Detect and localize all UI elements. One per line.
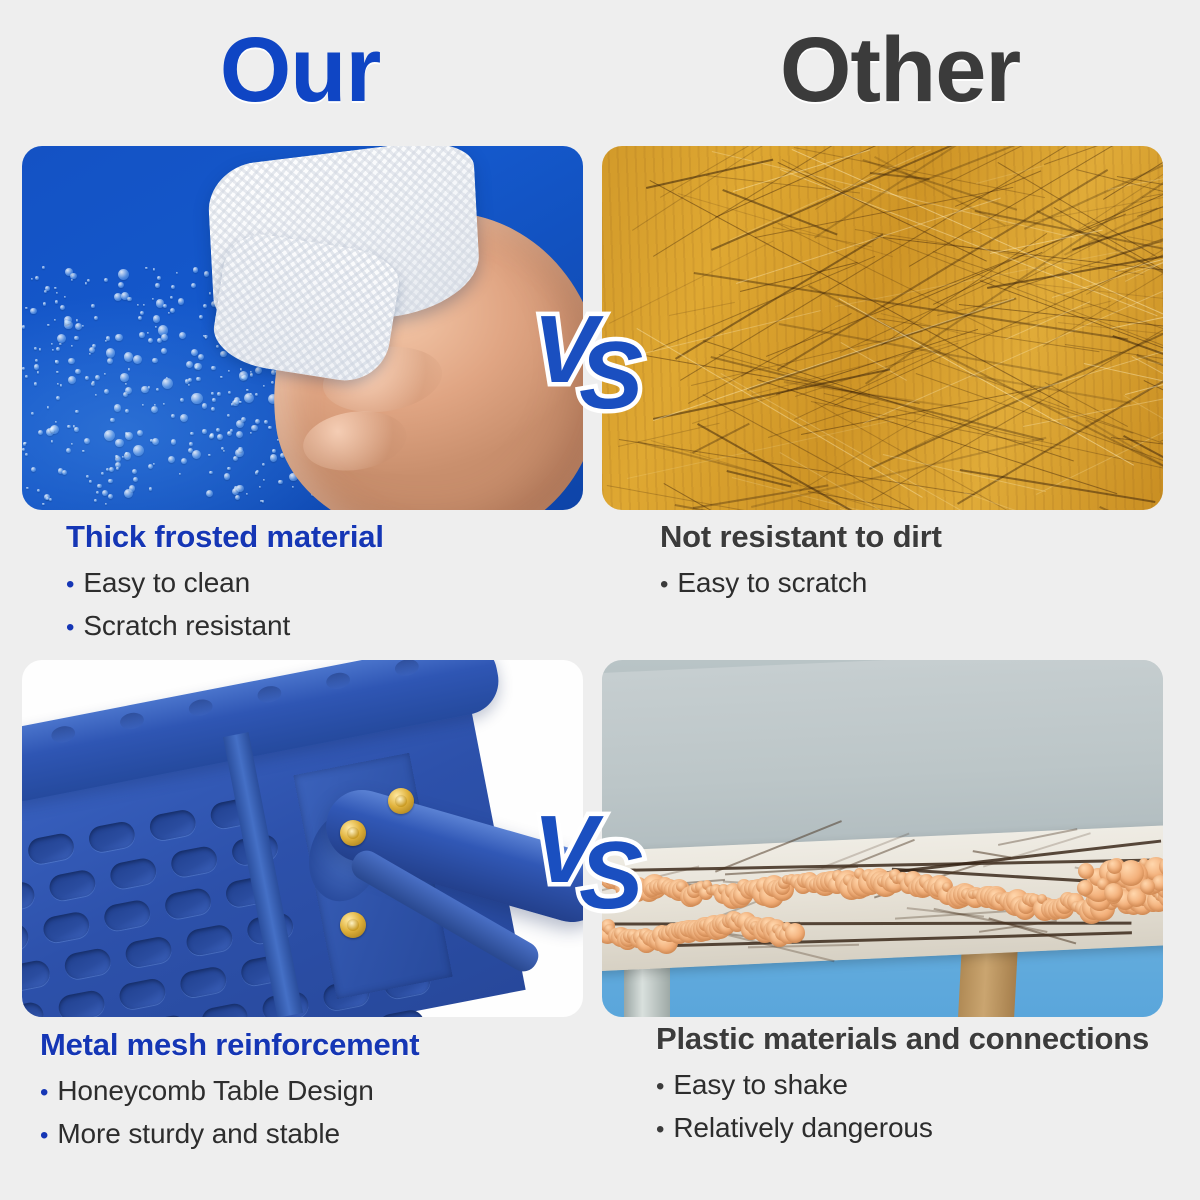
bullet-dot-icon: • [660, 573, 668, 597]
list-item-label: Honeycomb Table Design [57, 1069, 373, 1112]
bullet-dot-icon: • [40, 1124, 48, 1148]
header-our: Our [0, 14, 600, 126]
list-item-label: Easy to shake [673, 1063, 848, 1106]
caption-plastic-materials-and-connections: Plastic materials and connections •Easy … [656, 1022, 1186, 1150]
bullet-dot-icon: • [66, 573, 74, 597]
caption-bullet-list: •Easy to shake •Relatively dangerous [656, 1063, 1186, 1150]
brass-screw [340, 912, 366, 938]
bullet-dot-icon: • [656, 1075, 664, 1099]
caption-bullet-list: •Easy to scratch [660, 561, 1180, 604]
header-row: Our Other [0, 0, 1200, 140]
list-item-label: Easy to clean [83, 561, 250, 604]
bullet-dot-icon: • [66, 616, 74, 640]
list-item-label: Easy to scratch [677, 561, 867, 604]
list-item-label: Relatively dangerous [673, 1106, 933, 1149]
image-scratched-wood-surface [602, 146, 1163, 510]
list-item: •Easy to scratch [660, 561, 1180, 604]
image-blue-frosted-surface-wipe [22, 146, 583, 510]
list-item-label: Scratch resistant [83, 604, 290, 647]
bullet-dot-icon: • [40, 1081, 48, 1105]
list-item-label: More sturdy and stable [57, 1112, 340, 1155]
scratch-marks [602, 146, 1163, 510]
caption-not-resistant-to-dirt: Not resistant to dirt •Easy to scratch [660, 520, 1180, 604]
caption-bullet-list: •Easy to clean •Scratch resistant [66, 561, 586, 648]
list-item: •Honeycomb Table Design [40, 1069, 600, 1112]
caption-bullet-list: •Honeycomb Table Design •More sturdy and… [40, 1069, 600, 1156]
caption-title: Not resistant to dirt [660, 520, 1180, 555]
bullet-dot-icon: • [656, 1118, 664, 1142]
brass-screw [340, 820, 366, 846]
caption-thick-frosted-material: Thick frosted material •Easy to clean •S… [66, 520, 586, 648]
comparison-infographic: Our Other [0, 0, 1200, 1200]
caption-title: Plastic materials and connections [656, 1022, 1186, 1057]
foam-repair-blobs [602, 660, 1163, 1017]
list-item: •Easy to clean [66, 561, 586, 604]
image-blue-table-metal-frame [22, 660, 583, 1017]
caption-title: Thick frosted material [66, 520, 586, 555]
list-item: •Relatively dangerous [656, 1106, 1186, 1149]
list-item: •Scratch resistant [66, 604, 586, 647]
list-item: •Easy to shake [656, 1063, 1186, 1106]
list-item: •More sturdy and stable [40, 1112, 600, 1155]
image-cracked-table-edge-foam [602, 660, 1163, 1017]
brass-screw [388, 788, 414, 814]
header-other: Other [600, 14, 1200, 126]
caption-title: Metal mesh reinforcement [40, 1028, 600, 1063]
caption-metal-mesh-reinforcement: Metal mesh reinforcement •Honeycomb Tabl… [40, 1028, 600, 1156]
